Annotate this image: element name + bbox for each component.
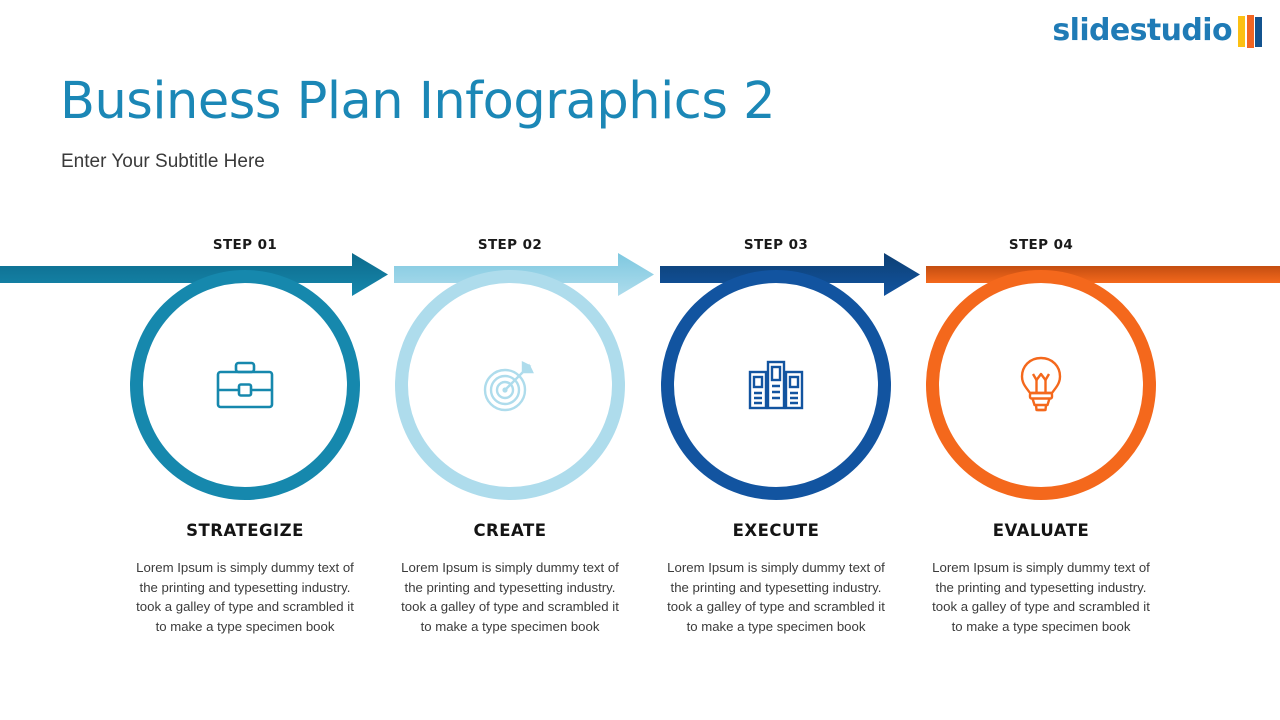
step-title-4: EVALUATE — [911, 521, 1171, 540]
step-body-1: Lorem Ipsum is simply dummy text of the … — [136, 558, 354, 636]
process-step-4[interactable]: EVALUATE Lorem Ipsum is simply dummy tex… — [911, 270, 1171, 636]
step-circle-2[interactable] — [395, 270, 625, 500]
step-title-3: EXECUTE — [646, 521, 906, 540]
process-step-1[interactable]: STRATEGIZE Lorem Ipsum is simply dummy t… — [115, 270, 375, 636]
page-subtitle: Enter Your Subtitle Here — [61, 151, 265, 173]
brand-logo-mark — [1238, 14, 1262, 48]
step-label-1: STEP 01 — [135, 237, 355, 253]
step-body-4: Lorem Ipsum is simply dummy text of the … — [932, 558, 1150, 636]
logo-bar-orange — [1247, 15, 1254, 48]
step-title-1: STRATEGIZE — [115, 521, 375, 540]
page-title: Business Plan Infographics 2 — [60, 72, 775, 131]
target-arrow-icon — [395, 270, 625, 500]
logo-bar-yellow — [1238, 16, 1245, 47]
brand-logo-text: slidestudio — [1052, 16, 1232, 46]
step-body-3: Lorem Ipsum is simply dummy text of the … — [667, 558, 885, 636]
step-title-2: CREATE — [380, 521, 640, 540]
lightbulb-icon — [926, 270, 1156, 500]
step-circle-3[interactable] — [661, 270, 891, 500]
logo-bar-blue — [1255, 17, 1262, 47]
step-label-4: STEP 04 — [931, 237, 1151, 253]
briefcase-icon — [130, 270, 360, 500]
documents-icon — [661, 270, 891, 500]
brand-logo: slidestudio — [1052, 14, 1262, 48]
process-step-3[interactable]: EXECUTE Lorem Ipsum is simply dummy text… — [646, 270, 906, 636]
step-label-2: STEP 02 — [400, 237, 620, 253]
step-circle-4[interactable] — [926, 270, 1156, 500]
step-body-2: Lorem Ipsum is simply dummy text of the … — [401, 558, 619, 636]
process-step-2[interactable]: CREATE Lorem Ipsum is simply dummy text … — [380, 270, 640, 636]
step-label-3: STEP 03 — [666, 237, 886, 253]
infographic-stage: STEP 01 STEP 02 STEP 03 STEP 04 STRATEGI… — [0, 225, 1280, 685]
step-circle-1[interactable] — [130, 270, 360, 500]
